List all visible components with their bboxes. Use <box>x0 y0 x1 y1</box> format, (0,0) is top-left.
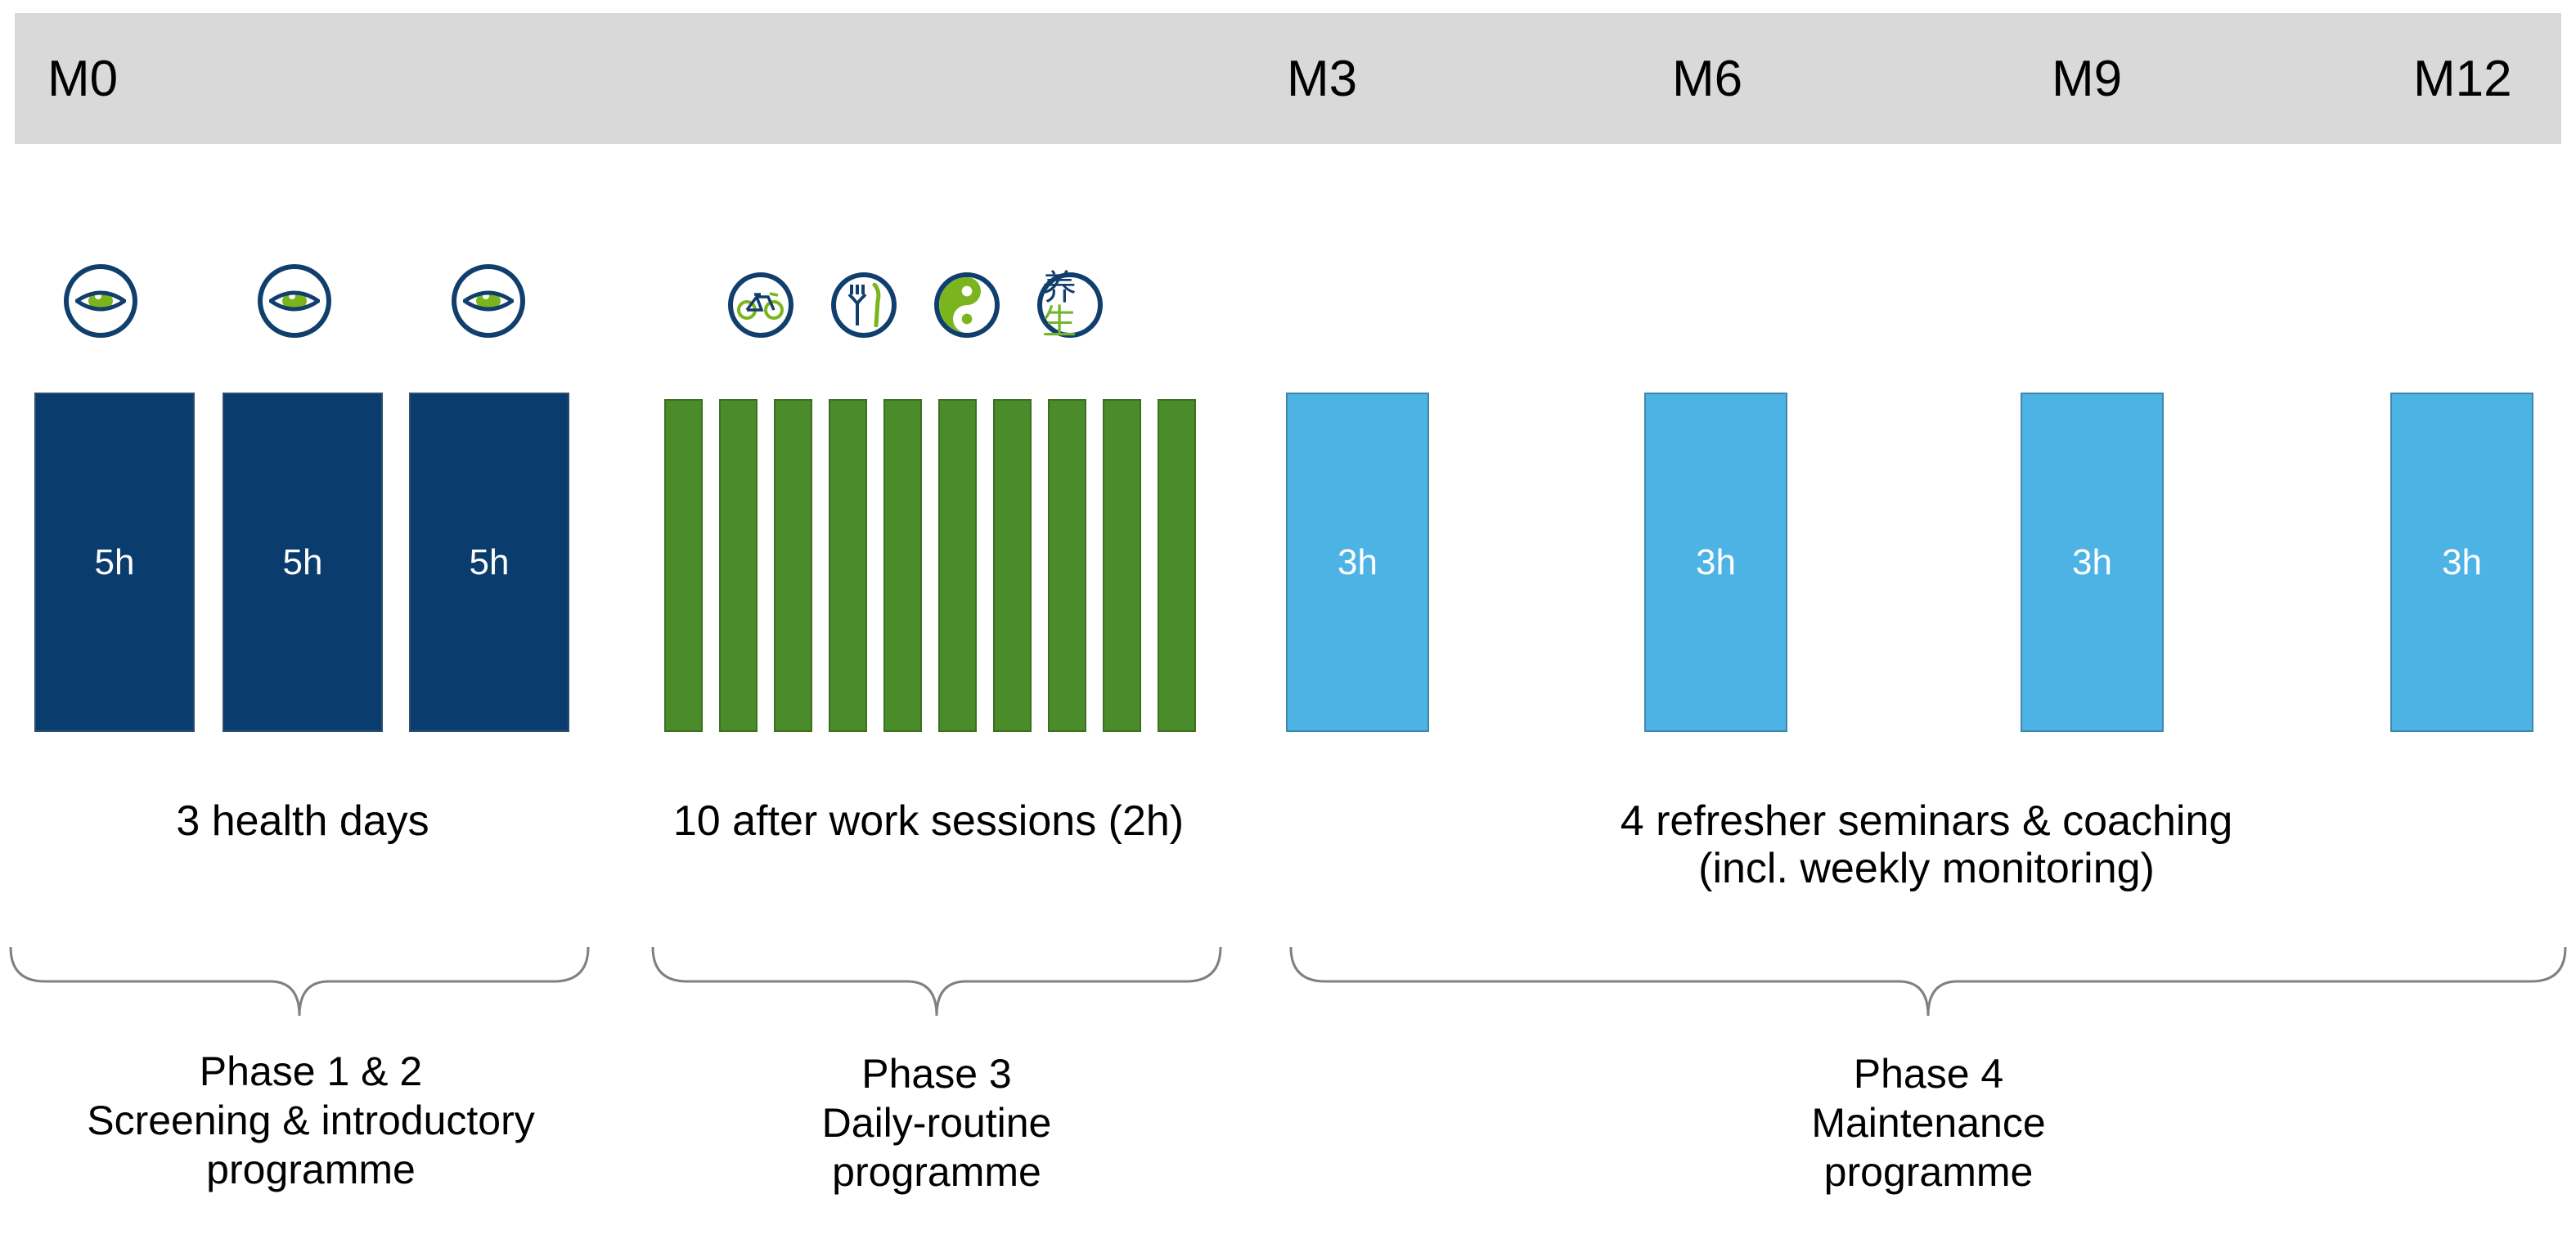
phase-4-title: Phase 4 <box>1288 1049 2569 1098</box>
after-work-session-bar <box>883 399 922 732</box>
caption-refreshers-line1: 4 refresher seminars & coaching <box>1276 797 2576 845</box>
phase-label-4: Phase 4 Maintenance programme <box>1288 1049 2569 1196</box>
timeline-tick-m6: M6 <box>1672 13 1742 144</box>
phase-3-line1: Daily-routine <box>650 1098 1223 1147</box>
bar-value: 5h <box>470 542 510 583</box>
phase-3-title: Phase 3 <box>650 1049 1223 1098</box>
phase-1-2-title: Phase 1 & 2 <box>8 1047 614 1096</box>
bar-value: 5h <box>283 542 323 583</box>
refresher-seminar-bar: 3h <box>2021 393 2164 732</box>
bar-value: 5h <box>95 542 135 583</box>
bar-value: 3h <box>2442 542 2482 583</box>
after-work-session-bar <box>664 399 703 732</box>
brace-phase-4 <box>1288 945 2569 1018</box>
brace-phase-3 <box>650 945 1223 1018</box>
after-work-session-bar <box>829 399 867 732</box>
eye-icon <box>452 264 525 338</box>
bar-value: 3h <box>2072 542 2112 583</box>
timeline-header-band: M0 M3 M6 M9 M12 <box>15 13 2561 144</box>
caption-refreshers: 4 refresher seminars & coaching (incl. w… <box>1276 797 2576 892</box>
phase-4-line2: programme <box>1288 1147 2569 1196</box>
health-day-bar: 5h <box>409 393 569 732</box>
bar-value: 3h <box>1696 542 1736 583</box>
refresher-seminar-bar: 3h <box>1286 393 1429 732</box>
yangsheng-icon: 养生 <box>1037 272 1103 338</box>
caption-after-work: 10 after work sessions (2h) <box>614 797 1243 845</box>
timeline-tick-m3: M3 <box>1287 13 1357 144</box>
after-work-session-bar <box>993 399 1032 732</box>
health-day-bar: 5h <box>223 393 383 732</box>
health-day-bar: 5h <box>34 393 195 732</box>
eye-icon <box>64 264 137 338</box>
after-work-session-bar <box>1158 399 1196 732</box>
brace-phase-1-2 <box>8 945 591 1018</box>
bar-value: 3h <box>1337 542 1378 583</box>
glyph-sheng: 生 <box>1042 302 1076 342</box>
cutlery-icon <box>831 272 897 338</box>
refresher-seminar-bar: 3h <box>1644 393 1787 732</box>
eye-icon <box>258 264 331 338</box>
after-work-session-bar <box>774 399 812 732</box>
yangsheng-glyphs: 养生 <box>1042 271 1098 339</box>
phase-3-line2: programme <box>650 1147 1223 1196</box>
caption-refreshers-line2: (incl. weekly monitoring) <box>1276 845 2576 892</box>
after-work-session-bar <box>938 399 977 732</box>
phase-1-2-line1: Screening & introductory <box>8 1096 614 1145</box>
bicycle-icon <box>728 272 793 338</box>
after-work-session-bar <box>1103 399 1141 732</box>
after-work-session-bar <box>719 399 758 732</box>
phase-label-3: Phase 3 Daily-routine programme <box>650 1049 1223 1196</box>
phase-label-1-2: Phase 1 & 2 Screening & introductory pro… <box>8 1047 614 1194</box>
timeline-tick-m0: M0 <box>47 13 118 144</box>
after-work-session-bar <box>1048 399 1086 732</box>
caption-health-days: 3 health days <box>8 797 597 845</box>
timeline-tick-m9: M9 <box>2052 13 2122 144</box>
phase-1-2-line2: programme <box>8 1145 614 1194</box>
refresher-seminar-bar: 3h <box>2390 393 2533 732</box>
phase-4-line1: Maintenance <box>1288 1098 2569 1147</box>
timeline-tick-m12: M12 <box>2413 13 2512 144</box>
yin-yang-icon <box>934 272 1000 338</box>
